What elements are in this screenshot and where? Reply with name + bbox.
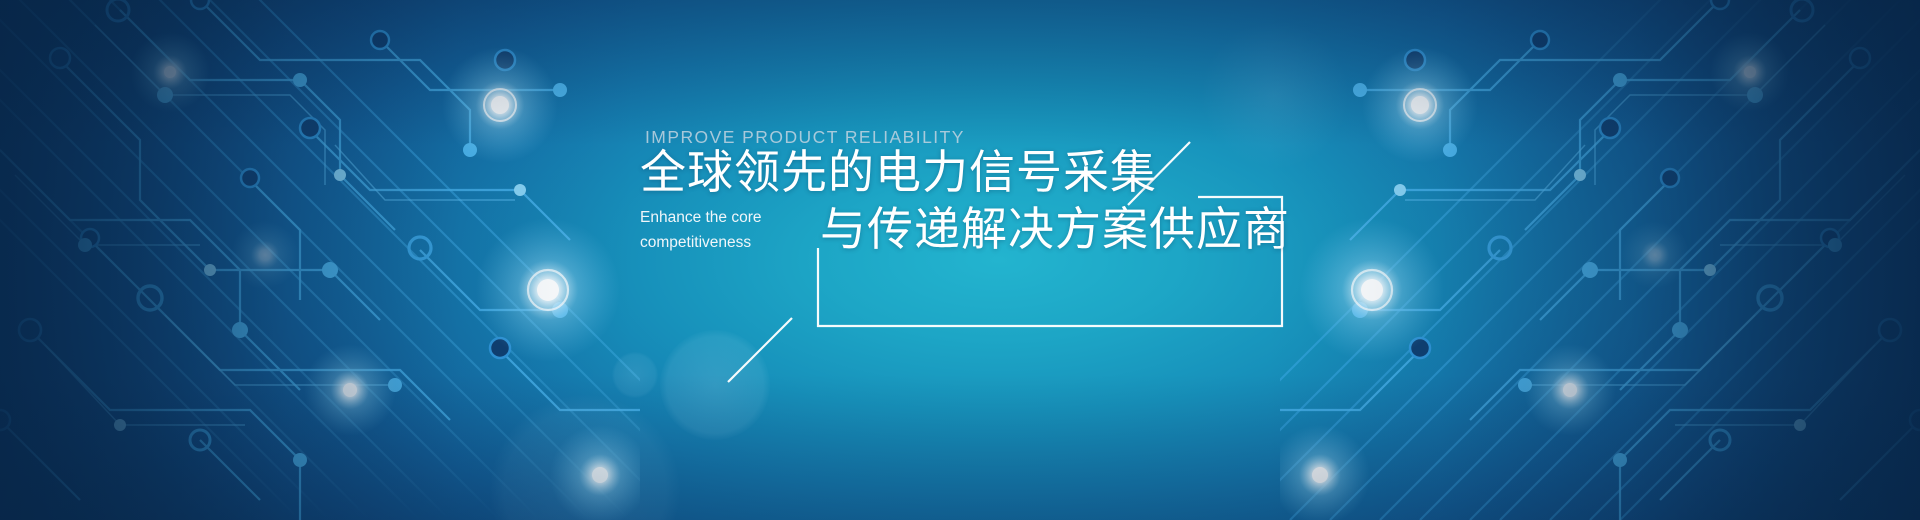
banner-subtitle: Enhance the core competitiveness: [640, 205, 800, 255]
banner-headline-line-2: 与传递解决方案供应商: [820, 205, 1290, 253]
hero-banner: IMPROVE PRODUCT RELIABILITY 全球领先的电力信号采集 …: [0, 0, 1920, 520]
banner-eyebrow: IMPROVE PRODUCT RELIABILITY: [645, 127, 965, 148]
banner-headline-line-1: 全球领先的电力信号采集: [640, 148, 1157, 196]
banner-subtitle-line-2: competitiveness: [640, 230, 800, 255]
banner-content: IMPROVE PRODUCT RELIABILITY 全球领先的电力信号采集 …: [640, 0, 1340, 520]
banner-subtitle-line-1: Enhance the core: [640, 205, 800, 230]
